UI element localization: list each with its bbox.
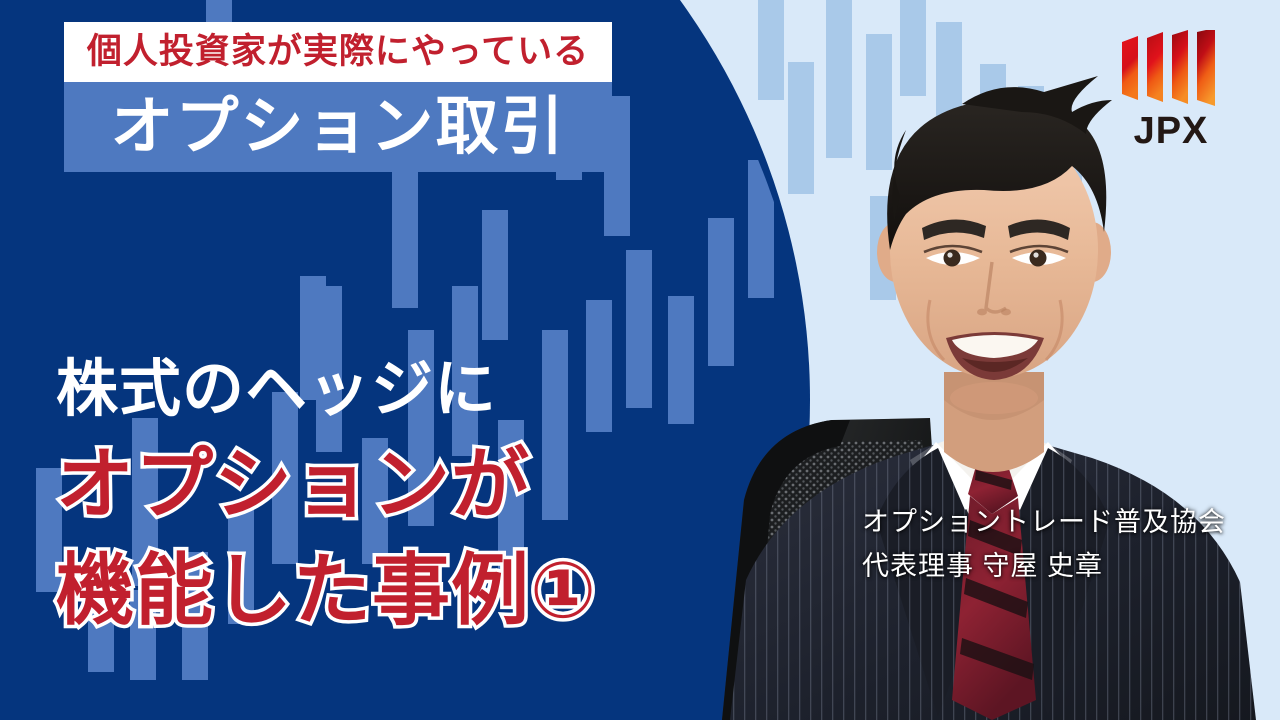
candle-bar bbox=[392, 168, 418, 308]
header-badge: 個人投資家が実際にやっている オプション取引 bbox=[64, 22, 612, 172]
badge-title-text: オプション取引 bbox=[64, 82, 612, 172]
speaker-credentials: オプショントレード普及協会 代表理事 守屋 史章 bbox=[862, 500, 1226, 588]
speaker-organization: オプショントレード普及協会 bbox=[862, 500, 1226, 544]
headline-line-1: 株式のヘッジに bbox=[56, 352, 756, 428]
headline-block: 株式のヘッジに オプションが 機能した事例① bbox=[56, 352, 756, 640]
headline-line-2: オプションが bbox=[56, 434, 756, 534]
eye-left bbox=[944, 250, 961, 267]
speaker-title-name: 代表理事 守屋 史章 bbox=[862, 544, 1226, 588]
headline-line-3: 機能した事例① bbox=[56, 540, 756, 640]
jpx-bars-icon bbox=[1118, 30, 1224, 108]
jpx-logo: JPX bbox=[1118, 30, 1224, 150]
badge-eyebrow-text: 個人投資家が実際にやっている bbox=[64, 22, 612, 82]
candle-bar bbox=[482, 210, 508, 340]
eye-right bbox=[1030, 250, 1047, 267]
face bbox=[887, 76, 1112, 414]
thumbnail-canvas: 個人投資家が実際にやっている オプション取引 株式のヘッジに オプションが 機能… bbox=[0, 0, 1280, 720]
jpx-wordmark: JPX bbox=[1118, 110, 1224, 152]
